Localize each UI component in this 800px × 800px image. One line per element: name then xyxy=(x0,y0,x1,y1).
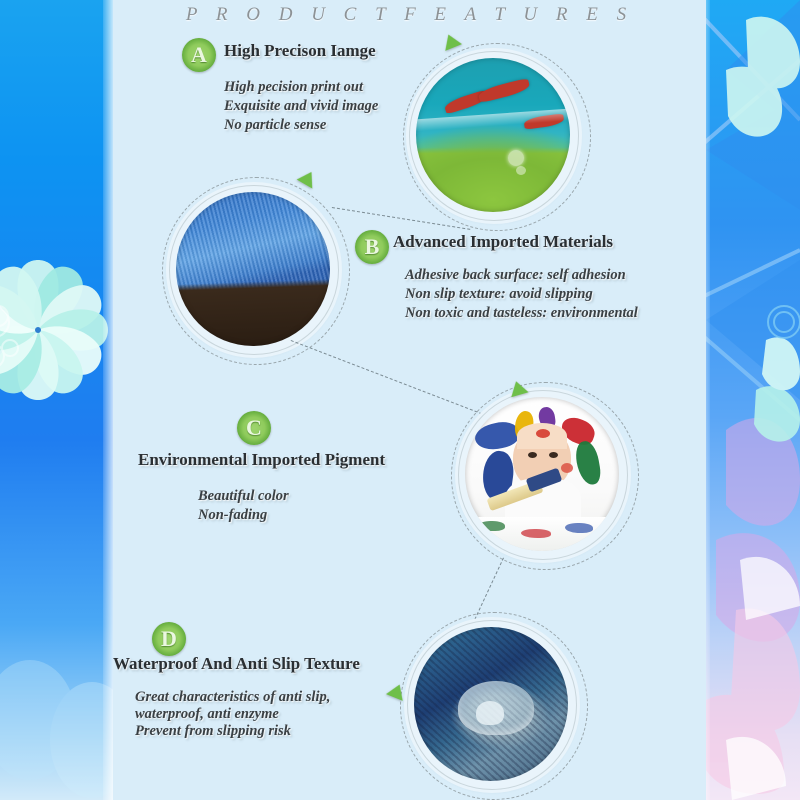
feature-c-badge: C xyxy=(237,411,271,445)
feature-a-line-2: Exquisite and vivid image xyxy=(224,97,378,116)
feature-a-badge: A xyxy=(182,38,216,72)
feature-d-heading: Waterproof And Anti Slip Texture xyxy=(113,654,360,674)
content-panel: P R O D U C T F E A T U R E S A High Pre… xyxy=(113,0,706,800)
blue-fabric-roll-photo xyxy=(176,192,330,346)
feature-d-badge: D xyxy=(152,622,186,656)
feature-c-heading: Environmental Imported Pigment xyxy=(138,450,385,470)
right-decorative-band xyxy=(706,0,800,800)
connector-b-to-c xyxy=(291,340,497,420)
painting-baby-photo xyxy=(465,397,619,551)
feature-c-badge-letter: C xyxy=(237,411,271,445)
triangle-arrow-icon-b xyxy=(297,167,320,188)
feature-b-badge-letter: B xyxy=(355,230,389,264)
left-decorative-band xyxy=(0,0,113,800)
feature-b-line-3: Non toxic and tasteless: environmental xyxy=(405,304,638,323)
feature-b-badge: B xyxy=(355,230,389,264)
left-band-edge xyxy=(103,0,113,800)
feature-c-line-2: Non-fading xyxy=(198,506,267,525)
feature-d-line-3: Prevent from slipping risk xyxy=(135,722,291,741)
feature-d-badge-letter: D xyxy=(152,622,186,656)
water-droplet-texture-photo xyxy=(414,627,568,781)
feature-b-line-2: Non slip texture: avoid slipping xyxy=(405,285,593,304)
feature-a-line-3: No particle sense xyxy=(224,116,326,135)
feature-a-heading: High Precison Iamge xyxy=(224,41,376,61)
feature-b-heading: Advanced Imported Materials xyxy=(393,232,613,252)
page-title: P R O D U C T F E A T U R E S xyxy=(113,4,706,26)
feature-c-line-1: Beautiful color xyxy=(198,487,289,506)
feature-a-badge-letter: A xyxy=(182,38,216,72)
feature-a-line-1: High pecision print out xyxy=(224,78,363,97)
product-features-infographic: P R O D U C T F E A T U R E S A High Pre… xyxy=(0,0,800,800)
koi-pond-print-photo xyxy=(416,58,570,212)
feature-b-line-1: Adhesive back surface: self adhesion xyxy=(405,266,626,285)
triangle-arrow-icon-a xyxy=(440,31,462,51)
